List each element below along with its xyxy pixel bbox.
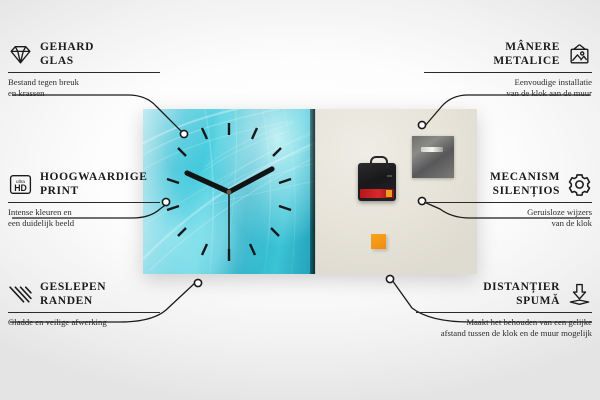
feature-hoogwaardige-print: ultra HD HOOGWAARDIGE PRINT Intense kleu… — [8, 170, 160, 230]
feature-title-line1: MÂNERE — [493, 40, 560, 54]
feature-desc-line1: Intense kleuren en — [8, 207, 160, 218]
battery — [360, 189, 394, 198]
feature-title-line2: METALICE — [493, 54, 560, 68]
divider — [424, 202, 592, 203]
feature-desc-line1: Maakt het behouden van een gelijke — [416, 317, 592, 328]
gear-icon — [567, 172, 592, 197]
feature-title-line1: GEHARD — [40, 40, 94, 54]
ultra-hd-icon-bottom: HD — [14, 182, 27, 192]
feature-title-line1: GESLEPEN — [40, 280, 106, 294]
feature-desc-line2: van de klok — [424, 218, 592, 229]
clock-front-face — [143, 109, 315, 274]
feature-desc-line1: Gladde en veilige afwerking — [8, 317, 160, 328]
feature-distantier-spuma: DISTANȚIER SPUMĂ Maakt het behouden van … — [416, 280, 592, 340]
arrow-down-pad-icon — [567, 282, 592, 307]
feature-geslepen-randen: GESLEPEN RANDEN Gladde en veilige afwerk… — [8, 280, 160, 328]
feature-title: GESLEPEN RANDEN — [8, 280, 160, 308]
feature-title-line1: DISTANȚIER — [483, 280, 560, 294]
divider — [8, 312, 160, 313]
feature-mecanism-silentios: MECANISM SILENȚIOS Geruisloze wijzers va… — [424, 170, 592, 230]
feature-title: DISTANȚIER SPUMĂ — [416, 280, 592, 308]
feature-title-line1: MECANISM — [490, 170, 560, 184]
ultra-hd-icon: ultra HD — [8, 172, 33, 197]
feature-title-line2: PRINT — [40, 184, 148, 198]
feature-gehard-glas: GEHARD GLAS Bestand tegen breuk en krass… — [8, 40, 160, 100]
feature-desc-line1: Bestand tegen breuk — [8, 77, 160, 88]
clock-movement — [358, 163, 396, 201]
diamond-icon — [8, 42, 33, 67]
feature-title: GEHARD GLAS — [8, 40, 160, 68]
feature-desc-line2: afstand tussen de klok en de muur mogeli… — [416, 328, 592, 339]
feature-desc-line1: Geruisloze wijzers — [424, 207, 592, 218]
divider — [8, 72, 160, 73]
feature-manere-metalice: MÂNERE METALICE Eenvoudige installatie v… — [424, 40, 592, 100]
divider — [416, 312, 592, 313]
feature-desc-line1: Eenvoudige installatie — [424, 77, 592, 88]
feature-title-line2: RANDEN — [40, 294, 106, 308]
feature-title: MÂNERE METALICE — [424, 40, 592, 68]
divider — [8, 202, 160, 203]
feature-desc-line2: van de klok aan de muur — [424, 88, 592, 99]
foam-spacer — [371, 234, 386, 249]
divider — [424, 72, 592, 73]
feature-title-line1: HOOGWAARDIGE — [40, 170, 148, 184]
feature-title: ultra HD HOOGWAARDIGE PRINT — [8, 170, 160, 198]
feature-desc-line2: een duidelijk beeld — [8, 218, 160, 229]
diagonal-lines-icon — [8, 282, 33, 307]
feature-desc-line2: en krassen — [8, 88, 160, 99]
clock-dial — [143, 109, 315, 274]
feature-title-line2: SILENȚIOS — [490, 184, 560, 198]
feature-title-line2: GLAS — [40, 54, 94, 68]
feature-title-line2: SPUMĂ — [483, 294, 560, 308]
feature-title: MECANISM SILENȚIOS — [424, 170, 592, 198]
hanging-picture-icon — [567, 42, 592, 67]
infographic-canvas: GEHARD GLAS Bestand tegen breuk en krass… — [0, 0, 600, 400]
